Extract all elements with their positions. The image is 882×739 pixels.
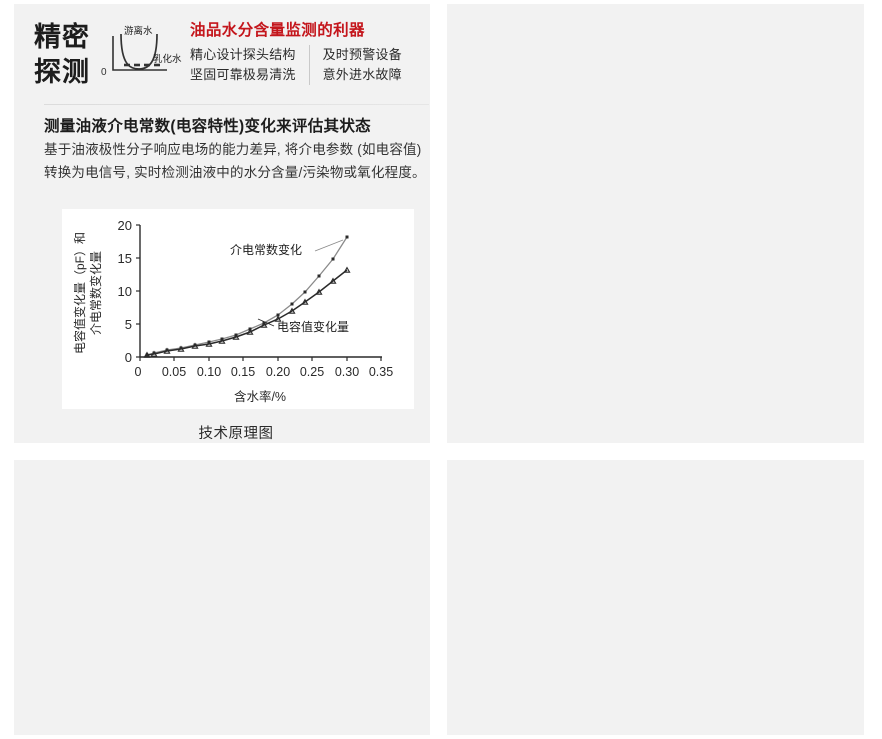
capacitance-chart: 0 5 10 15 20 0 (62, 209, 414, 409)
header-divider (44, 104, 429, 105)
feature-item: 精心设计探头结构 (190, 45, 296, 65)
svg-text:0: 0 (125, 350, 132, 365)
svg-text:0.35: 0.35 (369, 365, 393, 379)
svg-text:20: 20 (118, 218, 132, 233)
infographic-page: 精密 探测 0 游离水 乳化水 (0, 0, 882, 739)
header-red-title: 油品水分含量监测的利器 (190, 18, 402, 40)
panel-technology-principle: 精密 探测 0 游离水 乳化水 (14, 4, 430, 443)
feature-item: 坚固可靠极易清洗 (190, 65, 296, 85)
chart-annotation-dielectric: 介电常数变化 (230, 242, 302, 257)
header-title-line-2: 探测 (34, 55, 90, 90)
header-feature-columns: 精心设计探头结构 坚固可靠极易清洗 及时预警设备 意外进水故障 (190, 45, 402, 85)
panel-product-dimensions: 产品尺寸 (447, 460, 864, 735)
header-block: 精密 探测 0 游离水 乳化水 (34, 18, 430, 94)
icon-label-free-water: 游离水 (124, 25, 153, 37)
svg-text:0.20: 0.20 (266, 365, 290, 379)
section-heading: 测量油液介电常数(电容特性)变化来评估其状态 (44, 114, 371, 136)
svg-text:0: 0 (135, 365, 142, 379)
svg-text:0.25: 0.25 (300, 365, 324, 379)
svg-text:0.30: 0.30 (335, 365, 359, 379)
header-title: 精密 探测 (34, 18, 90, 89)
panel-cloud-platform: 油液云 油液在线监测大数据运维管理平台 2024-01-01 设备总览 (14, 460, 430, 735)
svg-text:电容值变化量（pF）和: 电容值变化量（pF）和 (72, 232, 87, 354)
svg-text:0.05: 0.05 (162, 365, 186, 379)
section-body: 基于油液极性分子响应电场的能力差异, 将介电参数 (如电容值) 转换为电信号, … (44, 138, 430, 184)
svg-text:15: 15 (118, 251, 132, 266)
svg-text:0.15: 0.15 (231, 365, 255, 379)
feature-column-2: 及时预警设备 意外进水故障 (309, 45, 402, 85)
icon-origin-label: 0 (101, 67, 107, 78)
feature-item: 及时预警设备 (323, 45, 402, 65)
panel-moisture-sensitivity: 水分污染超高敏感 同时检测油中溶解水、游离水及乳化水高达毫秒测量速率, 各种苛刻… (447, 4, 864, 443)
feature-column-1: 精心设计探头结构 坚固可靠极易清洗 (190, 45, 296, 85)
icon-label-emulsified-water: 乳化水 (153, 53, 182, 65)
caption-technology-principle: 技术原理图 (28, 422, 444, 443)
feature-item: 意外进水故障 (323, 65, 402, 85)
header-right: 油品水分含量监测的利器 精心设计探头结构 坚固可靠极易清洗 及时预警设备 意外进… (190, 18, 402, 85)
svg-text:10: 10 (118, 284, 132, 299)
svg-text:含水率/%: 含水率/% (234, 389, 286, 404)
water-curve-icon: 0 游离水 乳化水 (99, 22, 183, 84)
chart-annotation-capacitance: 电容值变化量 (277, 319, 349, 334)
svg-text:0.10: 0.10 (197, 365, 221, 379)
header-title-line-1: 精密 (34, 20, 90, 55)
svg-text:介电常数变化量: 介电常数变化量 (88, 251, 103, 335)
svg-text:5: 5 (125, 317, 132, 332)
